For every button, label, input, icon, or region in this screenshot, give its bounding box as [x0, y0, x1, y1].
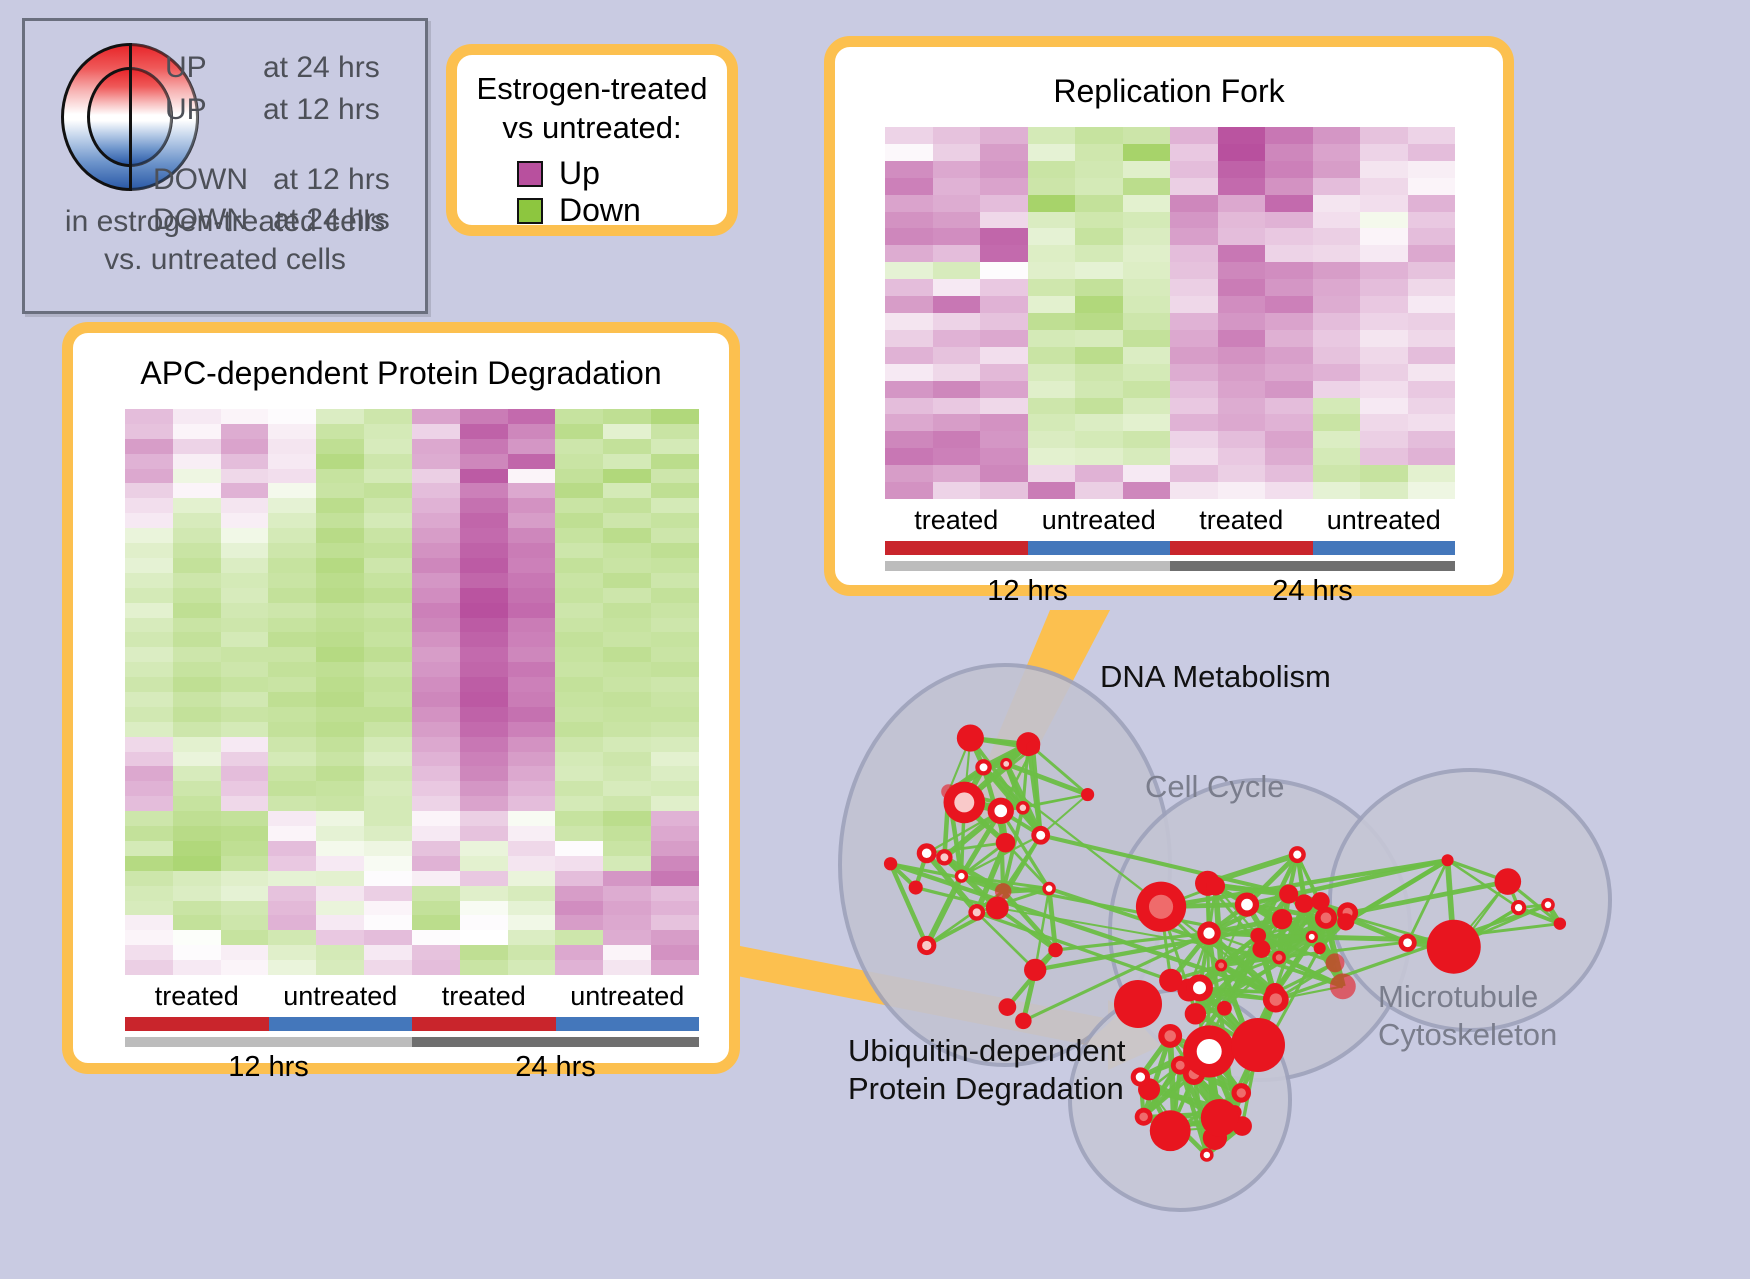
time-labels-apc: 12 hrs 24 hrs [125, 1051, 699, 1084]
group-bar-untreated-12 [1028, 541, 1171, 555]
group-label-apc-treated-12: treated [125, 981, 269, 1012]
legend-item-down: Down [517, 192, 641, 229]
panel-replication-fork: Replication Fork treated untreated treat… [824, 36, 1514, 596]
time-bar-apc-24hrs [412, 1037, 699, 1047]
group-label-apc-untreated-12: untreated [269, 981, 413, 1012]
color-key-footer-line2: vs. untreated cells [25, 241, 425, 279]
group-bar-apc-untreated-12 [269, 1017, 413, 1031]
panel-apc-degradation: APC-dependent Protein Degradation treate… [62, 322, 740, 1074]
panel-title-replication-fork: Replication Fork [835, 73, 1503, 110]
network-graph [790, 600, 1750, 1279]
legend-items: Up Down [517, 155, 641, 229]
time-bar-apc [125, 1037, 699, 1047]
legend-label-up: Up [559, 155, 600, 192]
key-time-up-12: at 12 hrs [263, 93, 380, 127]
heatmap-replication-fork [885, 127, 1455, 499]
group-label-treated-12: treated [885, 505, 1028, 536]
key-word-down-12: DOWN [153, 163, 248, 197]
time-label-apc-12hrs: 12 hrs [125, 1051, 412, 1084]
group-bar-treated-12 [885, 541, 1028, 555]
key-word-up-12: UP [165, 93, 207, 127]
color-key-footer-line1: in estrogen-treated cells [25, 203, 425, 241]
legend-title: Estrogen-treated vs untreated: [457, 69, 727, 147]
group-bar-apc-untreated-24 [556, 1017, 700, 1031]
legend-title-line2: vs untreated: [457, 108, 727, 147]
group-bar-replication-fork [885, 541, 1455, 555]
time-bar-apc-12hrs [125, 1037, 412, 1047]
cluster-label-dna-metabolism: DNA Metabolism [1100, 658, 1331, 696]
group-label-apc-treated-24: treated [412, 981, 556, 1012]
time-bar-12hrs [885, 561, 1170, 571]
color-key-footer: in estrogen-treated cells vs. untreated … [25, 203, 425, 279]
group-label-untreated-12: untreated [1028, 505, 1171, 536]
group-bar-untreated-24 [1313, 541, 1456, 555]
pathway-network-diagram: DNA Metabolism Cell Cycle Microtubule Cy… [790, 600, 1750, 1279]
time-label-apc-24hrs: 24 hrs [412, 1051, 699, 1084]
group-bar-apc [125, 1017, 699, 1031]
group-label-treated-24: treated [1170, 505, 1313, 536]
group-label-untreated-24: untreated [1313, 505, 1456, 536]
key-time-up-24: at 24 hrs [263, 51, 380, 85]
time-bar-replication-fork [885, 561, 1455, 571]
key-time-down-12: at 12 hrs [273, 163, 390, 197]
time-bar-24hrs [1170, 561, 1455, 571]
group-bar-apc-treated-24 [412, 1017, 556, 1031]
key-word-up-24: UP [165, 51, 207, 85]
square-swatch-down-icon [517, 198, 543, 224]
cluster-label-ubiquitin-degradation: Ubiquitin-dependent Protein Degradation [848, 1032, 1126, 1108]
group-bar-treated-24 [1170, 541, 1313, 555]
heatmap-apc-degradation [125, 409, 699, 975]
color-key-legend: UP at 24 hrs UP at 12 hrs DOWN at 12 hrs… [22, 18, 428, 314]
group-labels-apc: treated untreated treated untreated [125, 981, 699, 1012]
figure-canvas: UP at 24 hrs UP at 12 hrs DOWN at 12 hrs… [0, 0, 1750, 1279]
group-label-apc-untreated-24: untreated [556, 981, 700, 1012]
legend-title-line1: Estrogen-treated [457, 69, 727, 108]
legend-item-up: Up [517, 155, 641, 192]
panel-title-apc: APC-dependent Protein Degradation [73, 355, 729, 392]
cluster-label-microtubule: Microtubule Cytoskeleton [1378, 978, 1557, 1054]
cluster-label-cell-cycle: Cell Cycle [1145, 768, 1285, 806]
group-bar-apc-treated-12 [125, 1017, 269, 1031]
square-swatch-up-icon [517, 161, 543, 187]
group-labels-replication-fork: treated untreated treated untreated [885, 505, 1455, 536]
up-down-legend-card: Estrogen-treated vs untreated: Up Down [446, 44, 738, 236]
legend-label-down: Down [559, 192, 641, 229]
